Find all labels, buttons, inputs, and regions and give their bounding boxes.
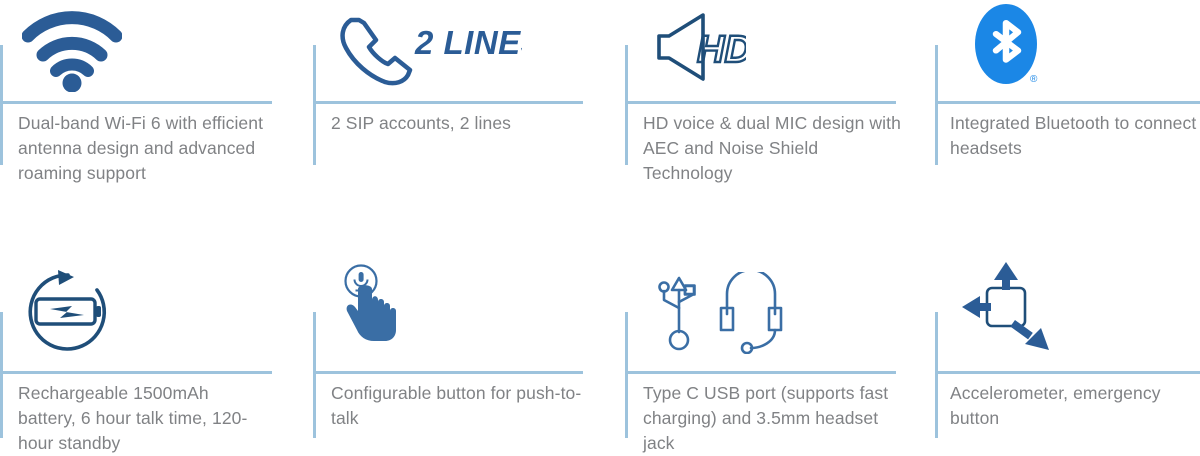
wifi-icon [22,10,122,92]
cell-horizontal-rule [625,101,896,104]
cell-horizontal-rule [313,371,583,374]
cell-vertical-rule [313,312,316,438]
cell-vertical-rule [625,312,628,438]
accelerometer-icon [957,262,1053,354]
usb-headset-icon [649,272,799,354]
feature-text: Integrated Bluetooth to connect headsets [950,111,1200,161]
feature-text: Type C USB port (supports fast charging)… [643,381,909,456]
cell-horizontal-rule [625,371,896,374]
feature-text: 2 SIP accounts, 2 lines [331,111,593,136]
push-to-talk-hand-icon [341,264,403,346]
cell-vertical-rule [313,45,316,165]
feature-cell-accelerometer: Accelerometer, emergency button [935,250,1200,456]
registered-mark-icon: ® [1030,74,1038,85]
feature-grid: Dual-band Wi-Fi 6 with efficient antenna… [0,0,1200,456]
cell-horizontal-rule [0,101,272,104]
feature-cell-battery: Rechargeable 1500mAh battery, 6 hour tal… [0,250,300,456]
2-lines-label: 2 LINES [414,24,522,61]
feature-cell-wifi: Dual-band Wi-Fi 6 with efficient antenna… [0,0,300,230]
feature-cell-push-to-talk: Configurable button for push-to-talk [313,250,613,456]
rechargeable-battery-icon [22,268,114,354]
feature-text: HD voice & dual MIC design with AEC and … [643,111,909,186]
phone-handset-2-lines-icon: 2 LINES [337,12,522,90]
feature-text: Dual-band Wi-Fi 6 with efficient antenna… [18,111,268,186]
cell-vertical-rule [625,45,628,165]
feature-cell-usb-headset: Type C USB port (supports fast charging)… [625,250,925,456]
cell-horizontal-rule [935,101,1200,104]
cell-vertical-rule [935,45,938,165]
cell-horizontal-rule [313,101,583,104]
hd-label: HD [697,29,746,71]
feature-text: Rechargeable 1500mAh battery, 6 hour tal… [18,381,268,456]
cell-vertical-rule [0,312,3,438]
feature-text: Accelerometer, emergency button [950,381,1200,431]
cell-horizontal-rule [0,371,272,374]
bluetooth-icon: ® [973,2,1045,90]
cell-vertical-rule [0,45,3,165]
feature-cell-hd-voice: HD HD voice & dual MIC design with AEC a… [625,0,925,230]
feature-cell-bluetooth: ® Integrated Bluetooth to connect headse… [935,0,1200,230]
hd-speaker-icon: HD [651,10,746,84]
feature-text: Configurable button for push-to-talk [331,381,593,431]
cell-vertical-rule [935,312,938,438]
cell-horizontal-rule [935,371,1200,374]
feature-cell-2-lines: 2 LINES 2 SIP accounts, 2 lines [313,0,613,230]
